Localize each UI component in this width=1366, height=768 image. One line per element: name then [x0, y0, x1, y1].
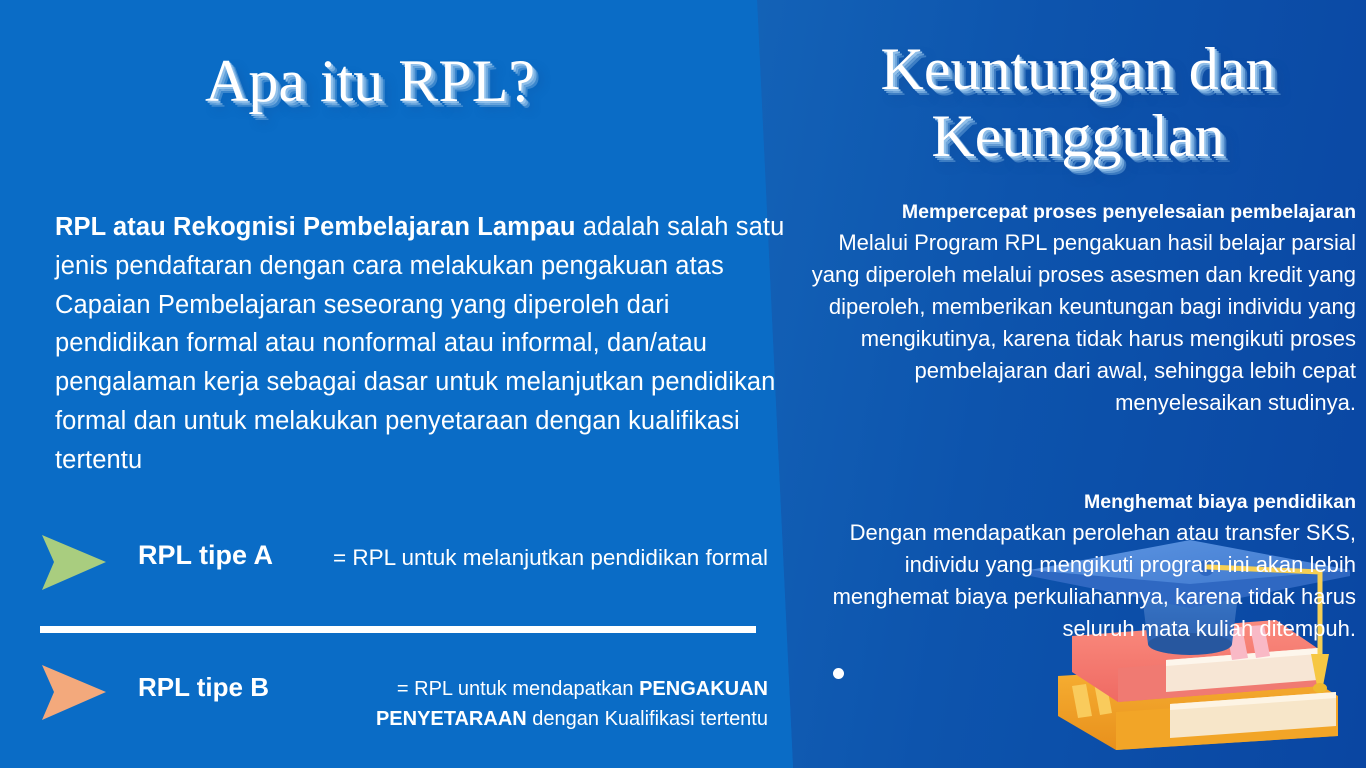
benefit-1-heading: Mempercepat proses penyelesaian pembelaj… [806, 200, 1356, 225]
arrow-right-green-icon [38, 532, 110, 594]
section-divider [40, 626, 756, 633]
rpl-type-a-row: RPL tipe A = RPL untuk melanjutkan pendi… [38, 530, 768, 594]
left-body-rest: adalah salah satu jenis pendaftaran deng… [55, 213, 784, 474]
arrow-right-orange-icon [38, 662, 110, 724]
rpl-type-b-description: = RPL untuk mendapatkan PENGAKUAN PENYET… [283, 674, 768, 734]
left-body-paragraph: RPL atau Rekognisi Pembelajaran Lampau a… [55, 208, 785, 479]
rpl-type-b-desc-suffix: dengan Kualifikasi tertentu [527, 708, 768, 730]
right-benefit-block-1: Mempercepat proses penyelesaian pembelaj… [806, 200, 1356, 419]
benefit-1-text: Melalui Program RPL pengakuan hasil bela… [806, 227, 1356, 418]
rpl-type-b-desc-prefix: = RPL untuk mendapatkan [397, 678, 639, 700]
right-panel-title: Keuntungan dan Keunggulan [790, 36, 1366, 170]
rpl-type-b-label: RPL tipe B [138, 672, 269, 703]
benefit-2-text: Dengan mendapatkan perolehan atau transf… [806, 517, 1356, 645]
left-body-bold-term: RPL atau Rekognisi Pembelajaran Lampau [55, 213, 576, 241]
rpl-type-b-row: RPL tipe B = RPL untuk mendapatkan PENGA… [38, 660, 768, 734]
presentation-slide: Apa itu RPL? Keuntungan dan Keunggulan R… [0, 0, 1366, 768]
rpl-type-a-description: = RPL untuk melanjutkan pendidikan forma… [287, 542, 768, 574]
right-benefit-block-2: Menghemat biaya pendidikan Dengan mendap… [806, 490, 1356, 645]
rpl-type-a-label: RPL tipe A [138, 540, 273, 571]
left-panel-title: Apa itu RPL? [0, 48, 740, 115]
benefit-2-heading: Menghemat biaya pendidikan [806, 490, 1356, 515]
bullet-point-marker [833, 668, 844, 679]
